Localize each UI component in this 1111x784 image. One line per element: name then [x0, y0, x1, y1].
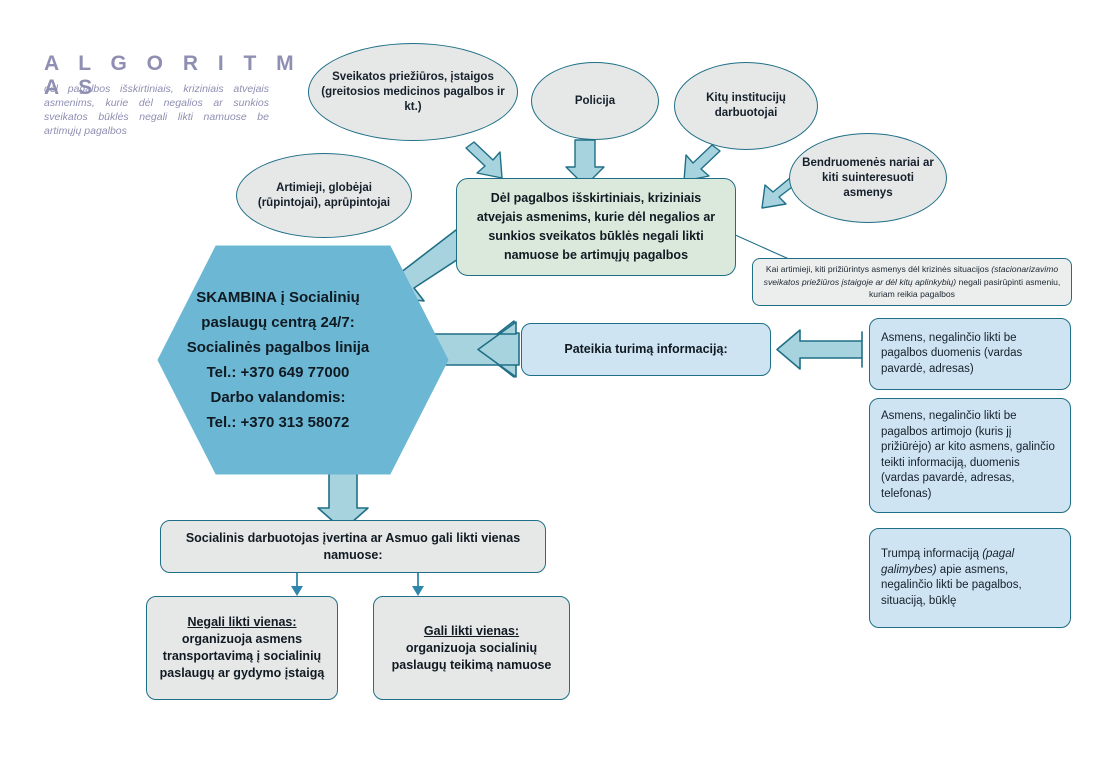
page-subtitle: dėl pagalbos išskirtiniais, kriziniais a…: [44, 82, 269, 138]
info-item-relative-data[interactable]: Asmens, negalinčio likti be pagalbos art…: [869, 398, 1071, 513]
assessment-label: Socialinis darbuotojas įvertina ar Asmuo…: [171, 530, 535, 564]
info-item-short-info-text: Trumpą informaciją (pagal galimybes) api…: [881, 547, 1059, 609]
info-item-relative-data-text: Asmens, negalinčio likti be pagalbos art…: [881, 409, 1059, 502]
info-item-person-data-text: Asmens, negalinčio likti be pagalbos duo…: [881, 331, 1059, 378]
source-community[interactable]: Bendruomenės nariai ar kiti suinteresuot…: [789, 133, 947, 223]
source-other-institutions[interactable]: Kitų institucijų darbuotojai: [674, 62, 818, 150]
info-item-short-info-prefix: Trumpą informaciją: [881, 548, 982, 560]
diagram-canvas: A L G O R I T M A S dėl pagalbos išskirt…: [0, 0, 1111, 784]
central-case-text: Dėl pagalbos išskirtiniais, kriziniais a…: [467, 189, 725, 265]
source-police[interactable]: Policija: [531, 62, 659, 140]
outcome-can-stay[interactable]: Gali likti vienas: organizuoja socialini…: [373, 596, 570, 700]
provide-info-label: Pateikia turimą informaciją:: [564, 341, 727, 358]
central-case-box[interactable]: Dėl pagalbos išskirtiniais, kriziniais a…: [456, 178, 736, 276]
condition-note-line1: Kai artimieji, kiti prižiūrintys asmenys…: [766, 264, 989, 274]
outcome-can-stay-text: Gali likti vienas: organizuoja socialini…: [384, 623, 559, 674]
condition-note: Kai artimieji, kiti prižiūrintys asmenys…: [752, 258, 1072, 306]
assessment-box[interactable]: Socialinis darbuotojas įvertina ar Asmuo…: [160, 520, 546, 573]
info-item-short-info[interactable]: Trumpą informaciją (pagal galimybes) api…: [869, 528, 1071, 628]
outcome-cannot-stay-body: organizuoja asmens transportavimą į soci…: [160, 632, 325, 680]
outcome-cannot-stay-heading: Negali likti vienas:: [187, 615, 296, 629]
condition-note-text: Kai artimieji, kiti prižiūrintys asmenys…: [761, 263, 1063, 301]
arrow-left-icon: [777, 330, 862, 369]
arrow-down-thin-icon: [291, 573, 303, 596]
info-item-person-data[interactable]: Asmens, negalinčio likti be pagalbos duo…: [869, 318, 1071, 390]
source-health-care[interactable]: Sveikatos priežiūros, įstaigos (greitosi…: [308, 43, 518, 141]
source-health-care-label: Sveikatos priežiūros, įstaigos (greitosi…: [319, 70, 507, 115]
arrow-diagonal-icon: [684, 145, 720, 181]
arrow-diagonal-icon: [466, 142, 502, 178]
provide-info-box[interactable]: Pateikia turimą informaciją:: [521, 323, 771, 376]
source-relatives-label: Artimieji, globėjai (rūpintojai), aprūpi…: [247, 181, 401, 211]
outcome-cannot-stay-text: Negali likti vienas: organizuoja asmens …: [157, 614, 327, 682]
source-other-institutions-label: Kitų institucijų darbuotojai: [685, 91, 807, 121]
arrow-down-thin-icon: [412, 573, 424, 596]
outcome-can-stay-heading: Gali likti vienas:: [424, 624, 519, 638]
outcome-can-stay-body: organizuoja socialinių paslaugų teikimą …: [392, 641, 552, 672]
source-police-label: Policija: [575, 94, 615, 109]
source-community-label: Bendruomenės nariai ar kiti suinteresuot…: [800, 156, 936, 201]
source-relatives[interactable]: Artimieji, globėjai (rūpintojai), aprūpi…: [236, 153, 412, 238]
hexagon-shape: [158, 246, 448, 474]
outcome-cannot-stay[interactable]: Negali likti vienas: organizuoja asmens …: [146, 596, 338, 700]
